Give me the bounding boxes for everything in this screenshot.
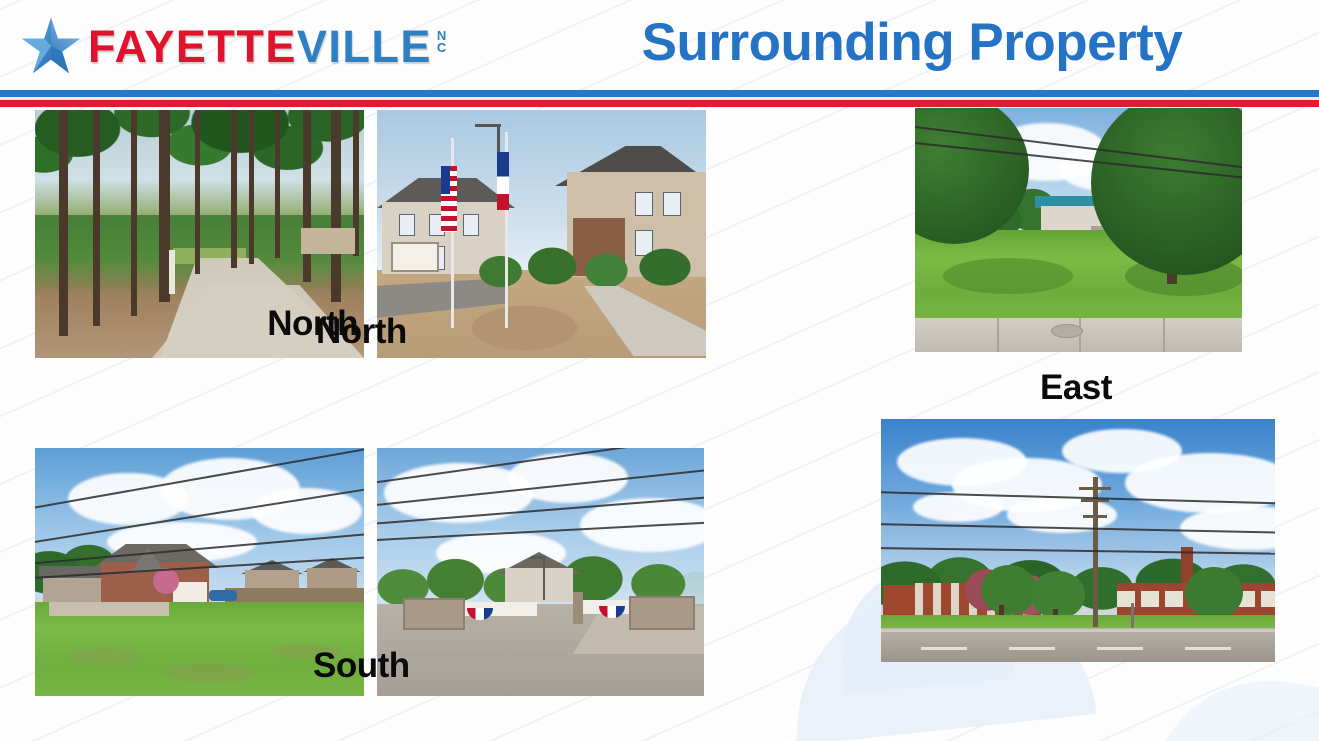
direction-label-south: South xyxy=(313,646,410,686)
fayetteville-logo: FAYETTE VILLE N C xyxy=(20,10,447,82)
direction-label-north: North xyxy=(316,312,407,352)
photo-scene xyxy=(377,110,706,358)
presentation-slide: FAYETTE VILLE N C Surrounding Property xyxy=(0,0,1319,741)
logo-state-letter-c: C xyxy=(437,40,447,55)
slide-header: FAYETTE VILLE N C Surrounding Property xyxy=(0,0,1319,92)
background-swoosh-shape xyxy=(1151,662,1319,741)
photo-scene xyxy=(377,448,704,696)
logo-word-fayette: FAYETTE xyxy=(88,24,297,69)
photo-east-lower xyxy=(881,419,1275,662)
photo-north-left: North xyxy=(35,110,364,358)
photo-north-right xyxy=(377,110,706,358)
five-point-star-icon xyxy=(20,15,82,77)
logo-wordmark: FAYETTE VILLE N C xyxy=(88,24,447,69)
direction-label-east: East xyxy=(1040,368,1112,408)
photo-east-upper xyxy=(915,108,1242,352)
page-title: Surrounding Property xyxy=(612,12,1212,73)
divider-red xyxy=(0,100,1319,107)
divider-blue xyxy=(0,90,1319,97)
logo-word-ville: VILLE xyxy=(297,24,432,69)
photo-scene xyxy=(915,108,1242,352)
photo-scene xyxy=(881,419,1275,662)
photo-south-right xyxy=(377,448,704,696)
logo-state-abbr: N C xyxy=(437,30,447,54)
